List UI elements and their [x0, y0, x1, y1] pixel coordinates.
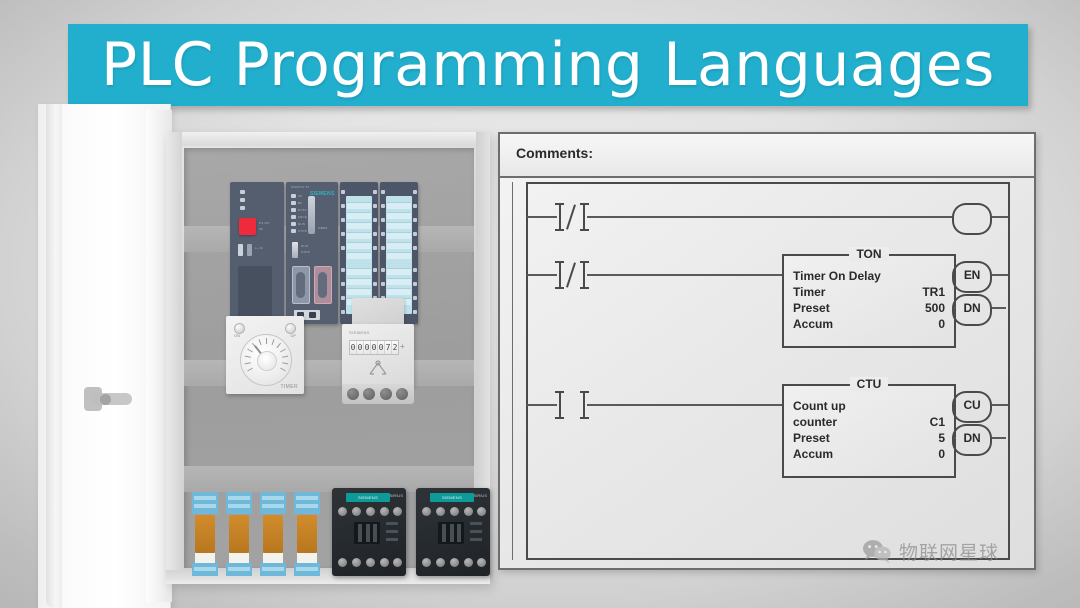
timer-module-label: TIMER [280, 384, 298, 390]
ctu-row: counter C1 [793, 414, 945, 430]
contact-normally-closed[interactable] [555, 203, 589, 231]
screenshot-root: PLC Programming Languages [0, 0, 1080, 608]
counter-digit: 0 [357, 341, 364, 354]
counter-digit: 0 [350, 341, 357, 354]
cabinet-body: PS 307 5A L+ M SIMATIC S7 SIEMENS [166, 132, 490, 584]
timer-indicator-up-label: UP [290, 333, 296, 338]
contactor-brand-badge: SIEMENS [430, 493, 474, 502]
left-gutter-line [512, 182, 513, 560]
cpu-selector[interactable] [292, 242, 298, 258]
ctu-block-title: CTU [784, 377, 954, 391]
ton-row-label: Preset [793, 300, 830, 316]
counter-digit: 0 [364, 341, 371, 354]
comments-label: Comments: [516, 145, 593, 161]
counter-plus-sign: + [400, 342, 405, 351]
coil-dn-label: DN [952, 424, 992, 452]
counter-display: 0 0 0 0 0 7 2 [349, 340, 399, 355]
left-power-rail [526, 182, 528, 560]
siemens-contactor[interactable]: SIEMENS SIRIUS [416, 488, 490, 576]
ctu-row-label: Preset [793, 430, 830, 446]
right-power-rail [1008, 182, 1010, 560]
ton-block-title: TON [784, 247, 954, 261]
ctu-row: Accum 0 [793, 446, 945, 462]
fuse-terminal-block[interactable] [192, 492, 218, 576]
coil-en[interactable]: EN [952, 261, 992, 289]
contactor-series-label: SIRIUS [474, 493, 487, 498]
watermark: 物联网星球 [862, 538, 999, 565]
counter-symbol-icon [368, 360, 388, 376]
counter-digit: 2 [392, 341, 398, 354]
cabinet-backplate: PS 307 5A L+ M SIMATIC S7 SIEMENS [184, 148, 474, 568]
stop-button[interactable] [239, 218, 256, 235]
analog-timer-module[interactable]: ON UP [226, 316, 304, 394]
ton-row: Preset 500 [793, 300, 945, 316]
ton-row: Timer On Delay [793, 268, 945, 284]
ctu-row-value: 0 [938, 446, 945, 462]
psu-cover-panel [238, 266, 272, 318]
comments-bar: Comments: [500, 134, 1034, 178]
counter-terminal-strip [342, 384, 414, 404]
fuse-terminal-block[interactable] [260, 492, 286, 576]
ton-row: Accum 0 [793, 316, 945, 332]
plc-cpu-module: SIMATIC S7 SIEMENS SF BF DC5V FRCE RUN [286, 182, 338, 324]
contact-normally-open[interactable] [555, 391, 589, 419]
fuse-terminal-block[interactable] [226, 492, 252, 576]
output-coil-label [952, 203, 992, 231]
rung-top-wire [526, 182, 1010, 184]
contact-normally-closed[interactable] [555, 261, 589, 289]
ton-row-label: Accum [793, 316, 833, 332]
timer-indicator-on-label: ON [234, 333, 240, 338]
ctu-row-label: counter [793, 414, 837, 430]
door-handle-icon [84, 386, 132, 412]
ton-row-label: Timer On Delay [793, 268, 881, 284]
profibus-port [314, 266, 332, 304]
door-spine [46, 104, 62, 608]
ctu-row-value: C1 [930, 414, 945, 430]
ton-row-value: 500 [925, 300, 945, 316]
counter-brand-label: SIEMENS [349, 330, 370, 335]
ctu-row-label: Count up [793, 398, 846, 414]
ctu-row-label: Accum [793, 446, 833, 462]
siemens-contactor[interactable]: SIEMENS SIRIUS [332, 488, 406, 576]
ctu-row-value: 5 [938, 430, 945, 446]
dial-knob[interactable] [257, 351, 277, 371]
coil-dn[interactable]: DN [952, 294, 992, 322]
ctu-row: Preset 5 [793, 430, 945, 446]
ton-row-value: 0 [938, 316, 945, 332]
coil-cu[interactable]: CU [952, 391, 992, 419]
watermark-text: 物联网星球 [899, 538, 999, 565]
contactor-brand-badge: SIEMENS [346, 493, 390, 502]
plc-control-cabinet: PS 307 5A L+ M SIMATIC S7 SIEMENS [30, 104, 490, 608]
ctu-row: Count up [793, 398, 945, 414]
ton-function-block[interactable]: TON Timer On Delay Timer TR1 Preset 500 [782, 254, 956, 348]
ton-row-value: TR1 [922, 284, 945, 300]
rung-area: TON Timer On Delay Timer TR1 Preset 500 [500, 176, 1034, 566]
counter-digit: 0 [378, 341, 385, 354]
counter-digit: 0 [371, 341, 378, 354]
contactor-series-label: SIRIUS [390, 493, 403, 498]
ladder-logic-panel: Comments: [498, 132, 1036, 570]
cabinet-door [38, 104, 171, 608]
siemens-counter-module: SIEMENS 0 0 0 0 0 7 2 + [342, 298, 414, 408]
counter-digit: 7 [385, 341, 392, 354]
ton-row: Timer TR1 [793, 284, 945, 300]
plc-power-supply-module: PS 307 5A L+ M [230, 182, 284, 324]
title-banner: PLC Programming Languages [68, 24, 1028, 106]
ton-row-label: Timer [793, 284, 825, 300]
coil-dn-label: DN [952, 294, 992, 322]
timer-dial[interactable] [240, 334, 292, 386]
cpu-mode-switch[interactable] [308, 196, 315, 234]
wechat-icon [862, 539, 892, 564]
counter-body: SIEMENS 0 0 0 0 0 7 2 + [342, 324, 414, 386]
fuse-terminal-block[interactable] [294, 492, 320, 576]
mpi-port [292, 266, 310, 304]
output-coil[interactable] [952, 203, 992, 231]
coil-en-label: EN [952, 261, 992, 289]
ctu-function-block[interactable]: CTU Count up counter C1 Preset 5 [782, 384, 956, 478]
coil-cu-label: CU [952, 391, 992, 419]
coil-dn[interactable]: DN [952, 424, 992, 452]
page-title: PLC Programming Languages [68, 24, 1028, 106]
